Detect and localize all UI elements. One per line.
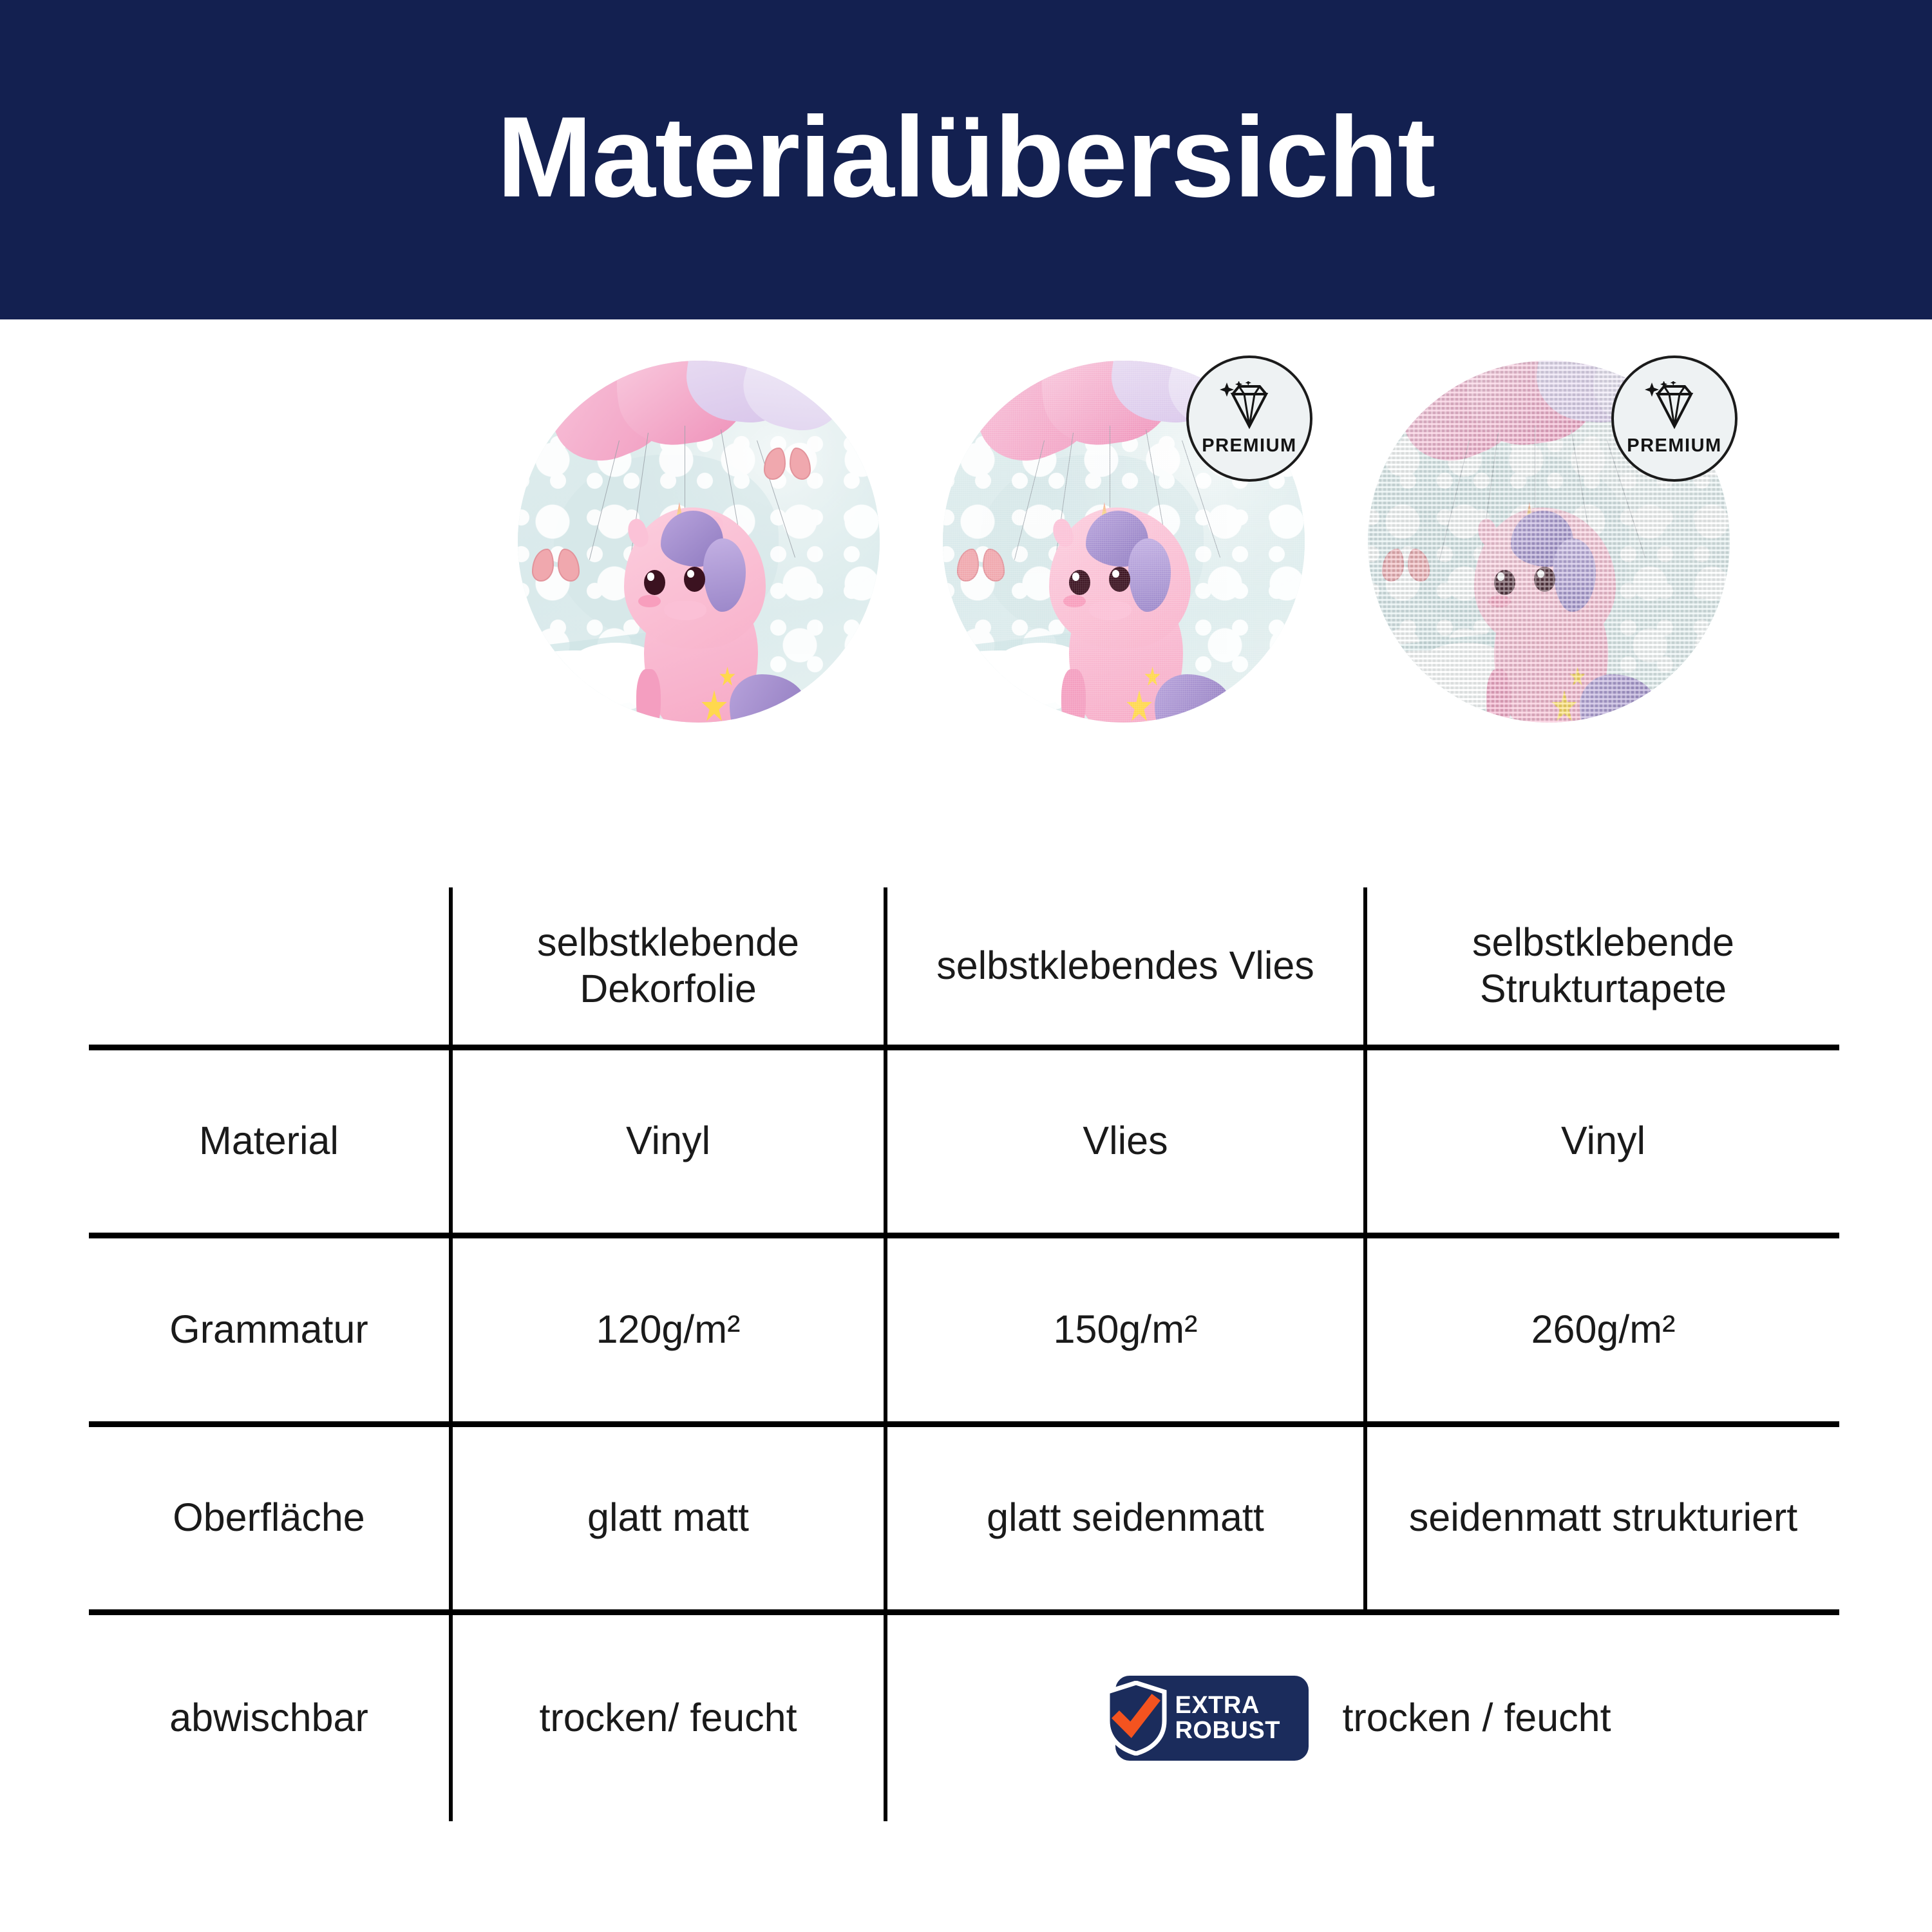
cell-abwischbar-value: trocken / feucht: [1342, 1695, 1611, 1741]
row-label-material: Material: [89, 1047, 451, 1236]
product-preview-row: PREMIUM: [0, 348, 1932, 747]
column-header-dekorfolie: selbstklebende Dekorfolie: [451, 887, 885, 1047]
cell-abwischbar-vlies-strukturtapete: EXTRA ROBUST trocken / feucht: [885, 1613, 1839, 1821]
cell-grammatur-vlies: 150g/m²: [885, 1236, 1365, 1425]
column-header-strukturtapete: selbstklebende Strukturtapete: [1365, 887, 1839, 1047]
column-header-vlies: selbstklebendes Vlies: [885, 887, 1365, 1047]
cell-grammatur-strukturtapete: 260g/m²: [1365, 1236, 1839, 1425]
shield-check-icon: [1105, 1681, 1167, 1756]
butterfly-icon: [532, 549, 579, 582]
premium-badge-label: PREMIUM: [1202, 435, 1296, 457]
cell-material-vlies: Vlies: [885, 1047, 1365, 1236]
cell-oberflaeche-strukturtapete: seidenmatt strukturiert: [1365, 1424, 1839, 1613]
cell-oberflaeche-vlies: glatt seidenmatt: [885, 1424, 1365, 1613]
preview-circle-1: [518, 361, 880, 723]
extra-robust-badge: EXTRA ROBUST: [1115, 1676, 1309, 1761]
table-row-material: Material Vinyl Vlies Vinyl: [89, 1047, 1839, 1236]
material-spec-table: selbstklebende Dekorfolie selbstklebende…: [89, 887, 1839, 1821]
extra-robust-line2: ROBUST: [1175, 1718, 1280, 1743]
preview-strukturtapete[interactable]: PREMIUM: [1368, 361, 1730, 723]
extra-robust-badge-text: EXTRA ROBUST: [1175, 1693, 1280, 1743]
premium-badge: PREMIUM: [1611, 355, 1738, 482]
preview-vlies[interactable]: PREMIUM: [943, 361, 1305, 723]
cell-material-strukturtapete: Vinyl: [1365, 1047, 1839, 1236]
table-row-abwischbar: abwischbar trocken/ feucht EXTRA ROBUST …: [89, 1613, 1839, 1821]
cell-abwischbar-dekorfolie: trocken/ feucht: [451, 1613, 885, 1821]
cell-oberflaeche-dekorfolie: glatt matt: [451, 1424, 885, 1613]
butterfly-icon: [764, 448, 811, 480]
table-header-row: selbstklebende Dekorfolie selbstklebende…: [89, 887, 1839, 1047]
table-row-oberflaeche: Oberfläche glatt matt glatt seidenmatt s…: [89, 1424, 1839, 1613]
row-label-abwischbar: abwischbar: [89, 1613, 451, 1821]
premium-badge: PREMIUM: [1186, 355, 1312, 482]
cell-grammatur-dekorfolie: 120g/m²: [451, 1236, 885, 1425]
page-title: Materialübersicht: [497, 100, 1435, 214]
extra-robust-line1: EXTRA: [1175, 1693, 1280, 1718]
diamond-icon: [1218, 381, 1280, 431]
header-band: Materialübersicht: [0, 0, 1932, 319]
table-corner-cell: [89, 887, 451, 1047]
premium-badge-label: PREMIUM: [1627, 435, 1721, 457]
diamond-icon: [1643, 381, 1705, 431]
row-label-grammatur: Grammatur: [89, 1236, 451, 1425]
unicorn-illustration: [612, 477, 815, 723]
preview-dekorfolie[interactable]: [518, 361, 880, 723]
cell-material-dekorfolie: Vinyl: [451, 1047, 885, 1236]
row-label-oberflaeche: Oberfläche: [89, 1424, 451, 1613]
table-row-grammatur: Grammatur 120g/m² 150g/m² 260g/m²: [89, 1236, 1839, 1425]
